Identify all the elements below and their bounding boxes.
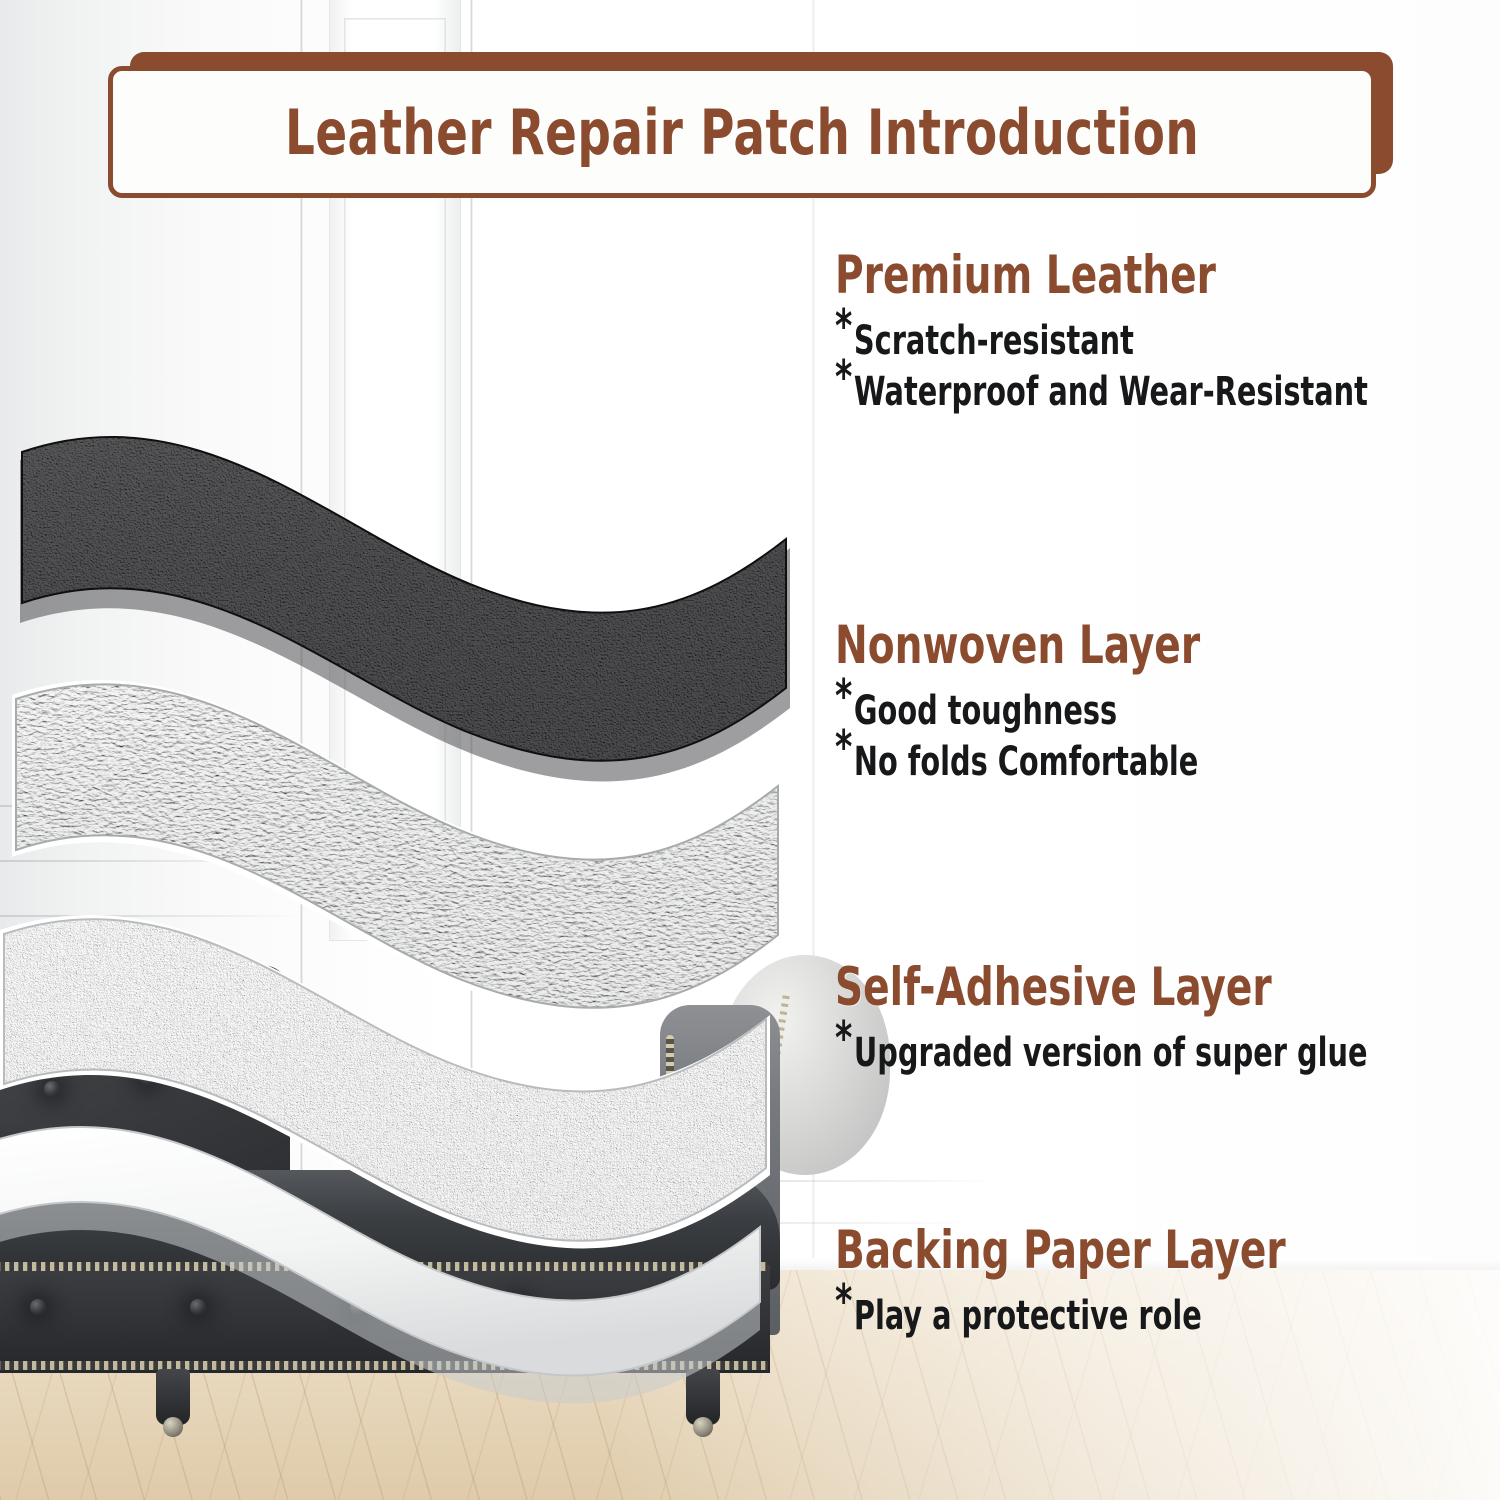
feature-bullet: *Good toughness	[835, 688, 1198, 735]
feature-bullet: *Play a protective role	[835, 1293, 1275, 1340]
feature-self-adhesive-layer: Self-Adhesive Layer *Upgraded version of…	[835, 960, 1500, 1081]
feature-bullets: *Play a protective role	[835, 1293, 1385, 1340]
feature-bullet-text: Scratch-resistant	[854, 318, 1134, 364]
feature-heading: Premium Leather	[835, 248, 1381, 304]
title-banner: Leather Repair Patch Introduction	[108, 52, 1393, 192]
feature-heading: Nonwoven Layer	[835, 618, 1207, 674]
title-banner-box: Leather Repair Patch Introduction	[108, 66, 1376, 198]
asterisk-icon: *	[835, 1274, 852, 1328]
feature-bullet-text: Play a protective role	[854, 1293, 1202, 1339]
asterisk-icon: *	[835, 1011, 852, 1065]
feature-bullet-text: Upgraded version of super glue	[854, 1030, 1368, 1076]
feature-bullets: *Scratch-resistant *Waterproof and Wear-…	[835, 318, 1500, 416]
sofa-caster	[693, 1417, 713, 1437]
sofa-caster	[163, 1417, 183, 1437]
feature-bullet: *Waterproof and Wear-Resistant	[835, 369, 1368, 416]
feature-heading: Backing Paper Layer	[835, 1223, 1286, 1279]
exploded-layer-stack	[0, 330, 870, 1410]
asterisk-icon: *	[835, 720, 852, 774]
feature-bullet-text: Waterproof and Wear-Resistant	[854, 369, 1368, 415]
feature-bullets: *Good toughness *No folds Comfortable	[835, 688, 1289, 786]
feature-bullet-text: Good toughness	[854, 688, 1117, 734]
feature-backing-paper-layer: Backing Paper Layer *Play a protective r…	[835, 1223, 1385, 1344]
infographic-canvas: Leather Repair Patch Introduction Premiu…	[0, 0, 1500, 1500]
feature-premium-leather: Premium Leather *Scratch-resistant *Wate…	[835, 248, 1500, 420]
premium-leather-layer	[0, 330, 870, 1410]
page-title: Leather Repair Patch Introduction	[285, 96, 1199, 169]
feature-bullet: *Scratch-resistant	[835, 318, 1368, 365]
feature-bullet: *Upgraded version of super glue	[835, 1030, 1368, 1077]
asterisk-icon: *	[835, 669, 852, 723]
feature-bullet: *No folds Comfortable	[835, 739, 1198, 786]
feature-nonwoven-layer: Nonwoven Layer *Good toughness *No folds…	[835, 618, 1289, 790]
feature-bullet-text: No folds Comfortable	[854, 739, 1198, 785]
asterisk-icon: *	[835, 299, 852, 353]
feature-bullets: *Upgraded version of super glue	[835, 1030, 1500, 1077]
asterisk-icon: *	[835, 350, 852, 404]
feature-heading: Self-Adhesive Layer	[835, 960, 1381, 1016]
